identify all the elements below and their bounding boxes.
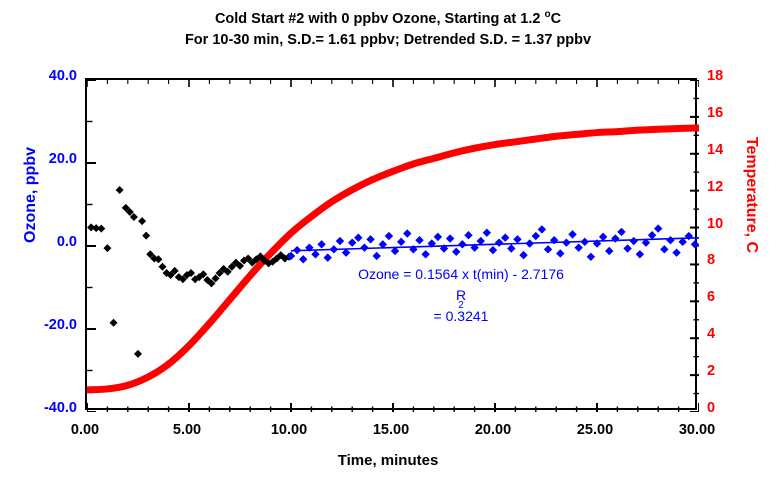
temperature-line <box>87 128 699 390</box>
ozone-late-marker <box>556 249 564 257</box>
y-axis-right-tick-label: 14 <box>707 142 747 158</box>
ozone-late-marker <box>360 243 368 251</box>
x-axis-tick-label: 5.00 <box>147 422 227 438</box>
ozone-late-marker <box>519 251 527 259</box>
celsius-unit: C <box>551 11 561 27</box>
ozone-late-marker <box>299 255 307 263</box>
ozone-early-marker <box>116 186 124 194</box>
ozone-late-marker <box>636 250 644 258</box>
ozone-late-marker <box>599 233 607 241</box>
ozone-late-marker <box>317 240 325 248</box>
ozone-late-marker <box>648 231 656 239</box>
plot-area <box>85 78 697 410</box>
chart-title: Cold Start #2 with 0 ppbv Ozone, Startin… <box>0 9 776 51</box>
ozone-late-marker <box>446 234 454 242</box>
chart-title-line-2: For 10-30 min, S.D.= 1.61 ppbv; Detrende… <box>0 30 776 51</box>
x-axis-tick-label: 20.00 <box>453 422 533 438</box>
regression-annotation: Ozone = 0.1564 x t(min) - 2.7176 R2 = 0.… <box>336 264 586 327</box>
y-axis-right-tick-label: 16 <box>707 105 747 121</box>
y-axis-left-tick-label: -20.0 <box>7 317 77 333</box>
x-axis-tick-label: 30.00 <box>657 422 737 438</box>
ozone-late-marker <box>324 253 332 261</box>
ozone-late-marker <box>403 229 411 237</box>
y-axis-right-tick-label: 6 <box>707 289 747 305</box>
ozone-late-marker <box>623 244 631 252</box>
y-axis-left-tick-label: 0.0 <box>7 234 77 250</box>
ozone-late-marker <box>385 232 393 240</box>
ozone-late-marker <box>605 247 613 255</box>
ozone-late-marker <box>434 233 442 241</box>
x-axis-tick-label: 15.00 <box>351 422 431 438</box>
ozone-late-marker <box>574 243 582 251</box>
ozone-late-marker <box>372 252 380 260</box>
ozone-late-marker <box>611 234 619 242</box>
ozone-late-marker <box>544 245 552 253</box>
r-squared-value: R2 = 0.3241 <box>336 285 586 327</box>
y-axis-right-tick-label: 0 <box>707 400 747 416</box>
x-axis-tick-label: 0.00 <box>45 422 125 438</box>
temperature-curve <box>87 128 699 390</box>
y-axis-right-tick-label: 12 <box>707 179 747 195</box>
ozone-late-marker <box>617 228 625 236</box>
ozone-late-marker <box>672 248 680 256</box>
ozone-late-marker <box>293 246 301 254</box>
ozone-late-marker <box>666 236 674 244</box>
ozone-late-marker <box>630 237 638 245</box>
ozone-early-marker <box>97 225 105 233</box>
x-axis-tick-label: 10.00 <box>249 422 329 438</box>
y-axis-left-tick-label: 40.0 <box>7 68 77 84</box>
ozone-late-marker <box>483 229 491 237</box>
ozone-late-marker <box>587 253 595 261</box>
ozone-late-marker <box>489 246 497 254</box>
ozone-late-marker <box>691 240 699 248</box>
ozone-late-marker <box>513 235 521 243</box>
ozone-late-marker <box>501 234 509 242</box>
ozone-late-marker <box>495 238 503 246</box>
chart-title-line-1-text: Cold Start #2 with 0 ppbv Ozone, Startin… <box>215 11 545 27</box>
plot-canvas <box>87 80 699 412</box>
ozone-early-marker <box>103 244 111 252</box>
ozone-early-marker <box>138 217 146 225</box>
ozone-late-marker <box>581 238 589 246</box>
ozone-early-marker <box>110 319 118 327</box>
y-axis-right-tick-label: 8 <box>707 252 747 268</box>
ozone-late-marker <box>532 232 540 240</box>
y-axis-left-tick-label: 20.0 <box>7 151 77 167</box>
y-axis-right-tick-label: 4 <box>707 326 747 342</box>
y-axis-left-tick-label: -40.0 <box>7 400 77 416</box>
y-axis-right-title: Temperature, C <box>742 115 760 275</box>
ozone-late-marker <box>311 250 319 258</box>
ozone-late-marker <box>568 230 576 238</box>
ozone-late-marker <box>562 238 570 246</box>
ozone-early-marker <box>142 232 150 240</box>
ozone-late-marker <box>538 225 546 233</box>
ozone-late-marker <box>415 236 423 244</box>
y-axis-right-tick-label: 2 <box>707 363 747 379</box>
ozone-late-marker <box>660 245 668 253</box>
chart-figure: Cold Start #2 with 0 ppbv Ozone, Startin… <box>0 0 776 483</box>
ozone-late-marker <box>366 235 374 243</box>
r-squared-number: = 0.3241 <box>336 306 586 327</box>
ozone-late-marker <box>336 237 344 245</box>
y-axis-left-title: Ozone, ppbv <box>22 115 40 275</box>
ozone-early-marker <box>134 350 142 358</box>
x-axis-tick-label: 25.00 <box>555 422 635 438</box>
ozone-late-marker <box>421 250 429 258</box>
ozone-late-marker <box>330 245 338 253</box>
ozone-late-marker <box>464 231 472 239</box>
ozone-late-marker <box>452 248 460 256</box>
regression-equation: Ozone = 0.1564 x t(min) - 2.7176 <box>336 264 586 285</box>
ozone-late-marker <box>354 234 362 242</box>
ozone-late-marker <box>458 240 466 248</box>
x-axis-title: Time, minutes <box>0 452 776 469</box>
ozone-late-marker <box>348 238 356 246</box>
chart-title-line-1: Cold Start #2 with 0 ppbv Ozone, Startin… <box>0 9 776 30</box>
ozone-late-marker <box>525 239 533 247</box>
ozone-late-marker <box>397 238 405 246</box>
ozone-early-points <box>87 186 293 358</box>
ozone-early-marker <box>158 263 166 271</box>
y-axis-right-tick-label: 10 <box>707 216 747 232</box>
ozone-late-marker <box>507 244 515 252</box>
ozone-late-marker <box>654 224 662 232</box>
y-axis-right-tick-label: 18 <box>707 68 747 84</box>
